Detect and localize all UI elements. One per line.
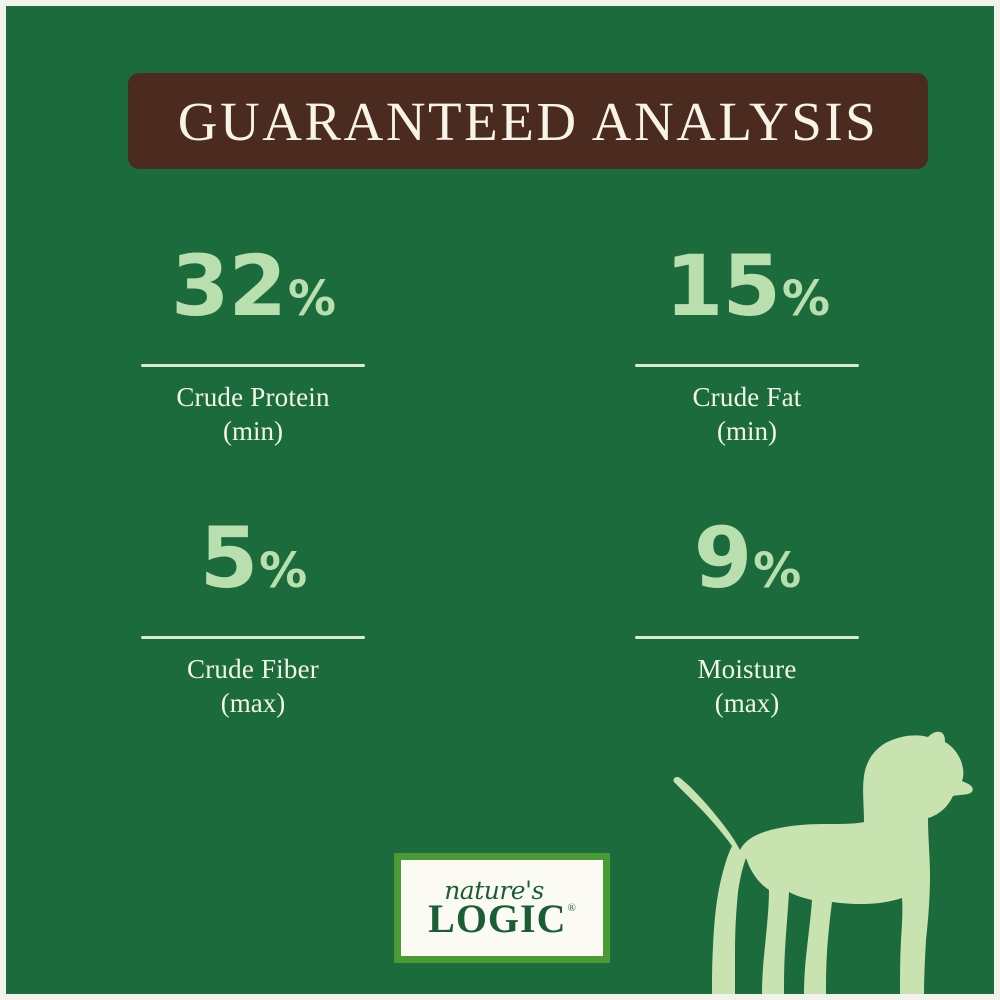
stat-number: 15 — [665, 244, 780, 328]
header-banner: GUARANTEED ANALYSIS — [128, 73, 928, 169]
dog-silhouette-icon — [664, 726, 994, 994]
brand-logo-main-word: LOGIC — [428, 899, 566, 939]
stat-value-crude-fiber: 5% — [200, 516, 307, 616]
stat-qualifier-crude-fiber: (max) — [221, 687, 285, 721]
divider — [635, 636, 859, 639]
brand-logo-inner: nature's LOGIC ® — [401, 860, 603, 956]
stat-value-crude-protein: 32% — [171, 244, 335, 344]
stat-value-crude-fat: 15% — [665, 244, 829, 344]
stat-number: 32 — [171, 244, 286, 328]
stat-label-crude-fat: Crude Fat — [692, 381, 801, 415]
divider — [141, 364, 365, 367]
percent-sign: % — [259, 547, 306, 595]
percent-sign: % — [288, 275, 335, 323]
stat-number: 5 — [200, 516, 257, 600]
stat-label-crude-protein: Crude Protein — [176, 381, 329, 415]
green-panel: GUARANTEED ANALYSIS 32% Crude Protein (m… — [6, 6, 994, 994]
registered-trademark-icon: ® — [568, 903, 576, 914]
divider — [141, 636, 365, 639]
percent-sign: % — [782, 275, 829, 323]
stat-qualifier-crude-protein: (min) — [223, 415, 283, 449]
nutrition-stats-grid: 32% Crude Protein (min) 15% Crude Fat (m… — [6, 224, 994, 768]
stat-crude-fat: 15% Crude Fat (min) — [500, 224, 994, 496]
stat-value-moisture: 9% — [694, 516, 801, 616]
stat-number: 9 — [694, 516, 751, 600]
stat-crude-fiber: 5% Crude Fiber (max) — [6, 496, 500, 768]
brand-logo-main-wrap: LOGIC ® — [428, 899, 576, 939]
stat-label-crude-fiber: Crude Fiber — [187, 653, 319, 687]
guaranteed-analysis-graphic: GUARANTEED ANALYSIS 32% Crude Protein (m… — [0, 0, 1000, 1000]
stat-qualifier-moisture: (max) — [715, 687, 779, 721]
brand-logo: nature's LOGIC ® — [394, 853, 610, 963]
stat-crude-protein: 32% Crude Protein (min) — [6, 224, 500, 496]
stat-label-moisture: Moisture — [697, 653, 796, 687]
stat-qualifier-crude-fat: (min) — [717, 415, 777, 449]
divider — [635, 364, 859, 367]
percent-sign: % — [753, 547, 800, 595]
page-title: GUARANTEED ANALYSIS — [178, 94, 878, 149]
